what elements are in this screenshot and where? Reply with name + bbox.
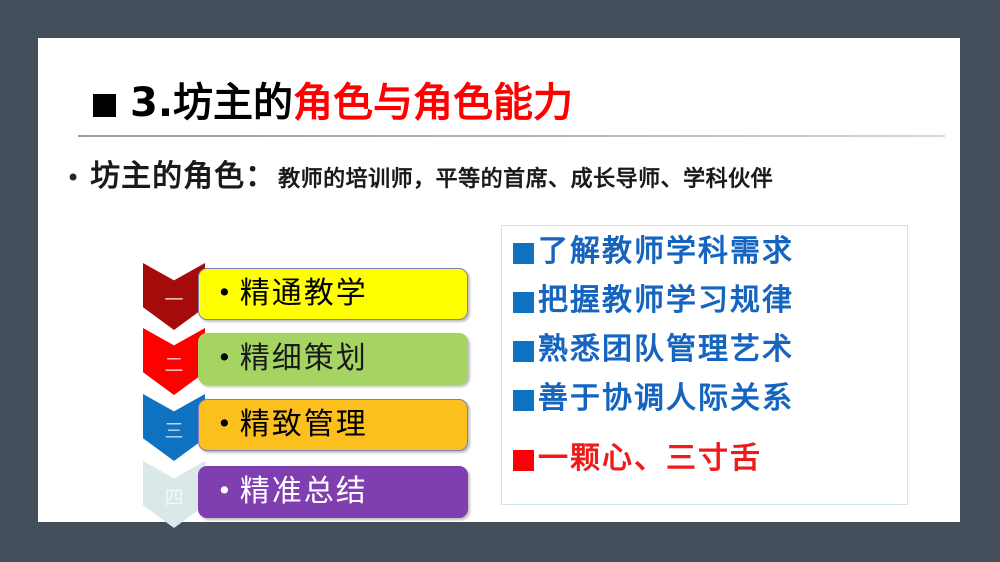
title-text-wrap: 3.坊主的角色与角色能力 <box>130 83 573 123</box>
blue-square-bullet-icon-3 <box>513 341 534 362</box>
step-bar-2[interactable]: • 精细策划 <box>198 333 468 385</box>
step-index-4: 四 <box>164 489 183 508</box>
chevron-icon-2: 二 <box>143 328 205 395</box>
capability-item-4[interactable]: 善于协调人际关系 <box>513 384 794 414</box>
capabilities-panel: 了解教师学科需求 把握教师学习规律 熟悉团队管理艺术 善于协调人际关系 一颗心、… <box>501 225 908 505</box>
step-index-1: 一 <box>164 291 183 310</box>
capability-text-3: 熟悉团队管理艺术 <box>538 335 794 365</box>
red-square-bullet-icon-5 <box>513 450 534 471</box>
capability-text-1: 了解教师学科需求 <box>538 237 794 267</box>
step-label-1: 精通教学 <box>240 279 368 309</box>
step-index-3: 三 <box>164 422 183 441</box>
capability-item-3[interactable]: 熟悉团队管理艺术 <box>513 335 794 365</box>
capability-item-2[interactable]: 把握教师学习规律 <box>513 286 794 316</box>
capability-item-1[interactable]: 了解教师学科需求 <box>513 237 794 267</box>
blue-square-bullet-icon-2 <box>513 292 534 313</box>
slide-canvas: 3.坊主的角色与角色能力 • 坊主的角色： 教师的培训师，平等的首席、成长导师、… <box>38 38 960 522</box>
chevron-icon-4: 四 <box>143 461 205 528</box>
capability-text-4: 善于协调人际关系 <box>538 384 794 414</box>
blue-square-bullet-icon-4 <box>513 390 534 411</box>
step-label-2: 精细策划 <box>240 344 368 374</box>
title-square-bullet-icon <box>93 94 116 117</box>
chevron-icon-3: 三 <box>143 394 205 461</box>
step-label-4: 精准总结 <box>240 477 368 507</box>
subtitle-bullet-icon: • <box>66 166 80 190</box>
step-bullet-icon-3: • <box>217 411 232 436</box>
title-prefix: 3.坊主的 <box>130 80 293 126</box>
capability-text-5: 一颗心、三寸舌 <box>538 444 762 474</box>
step-label-3: 精致管理 <box>240 410 368 440</box>
title-highlight: 角色与角色能力 <box>293 80 573 126</box>
step-bullet-icon-4: • <box>217 478 232 503</box>
step-index-2: 二 <box>164 356 183 375</box>
step-bar-3[interactable]: • 精致管理 <box>198 399 468 451</box>
step-bullet-icon-2: • <box>217 345 232 370</box>
step-row-2[interactable]: 二 • 精细策划 <box>138 333 483 385</box>
subtitle-lead: 坊主的角色： <box>90 151 276 195</box>
subtitle-detail: 教师的培训师，平等的首席、成长导师、学科伙伴 <box>278 161 773 193</box>
step-row-1[interactable]: 一 • 精通教学 <box>138 268 483 320</box>
step-row-3[interactable]: 三 • 精致管理 <box>138 399 483 451</box>
step-bar-4[interactable]: • 精准总结 <box>198 466 468 518</box>
step-row-4[interactable]: 四 • 精准总结 <box>138 466 483 518</box>
subtitle-line: • 坊主的角色： 教师的培训师，平等的首席、成长导师、学科伙伴 <box>66 151 773 195</box>
capability-text-2: 把握教师学习规律 <box>538 286 794 316</box>
capability-item-5[interactable]: 一颗心、三寸舌 <box>513 444 762 474</box>
title-divider <box>78 135 945 137</box>
page-title: 3.坊主的角色与角色能力 <box>93 76 573 130</box>
blue-square-bullet-icon-1 <box>513 243 534 264</box>
step-bullet-icon-1: • <box>217 280 232 305</box>
steps-stack: 一 • 精通教学 二 • 精细策划 三 • 精致管理 <box>138 223 483 523</box>
step-bar-1[interactable]: • 精通教学 <box>198 268 468 320</box>
chevron-icon-1: 一 <box>143 263 205 330</box>
